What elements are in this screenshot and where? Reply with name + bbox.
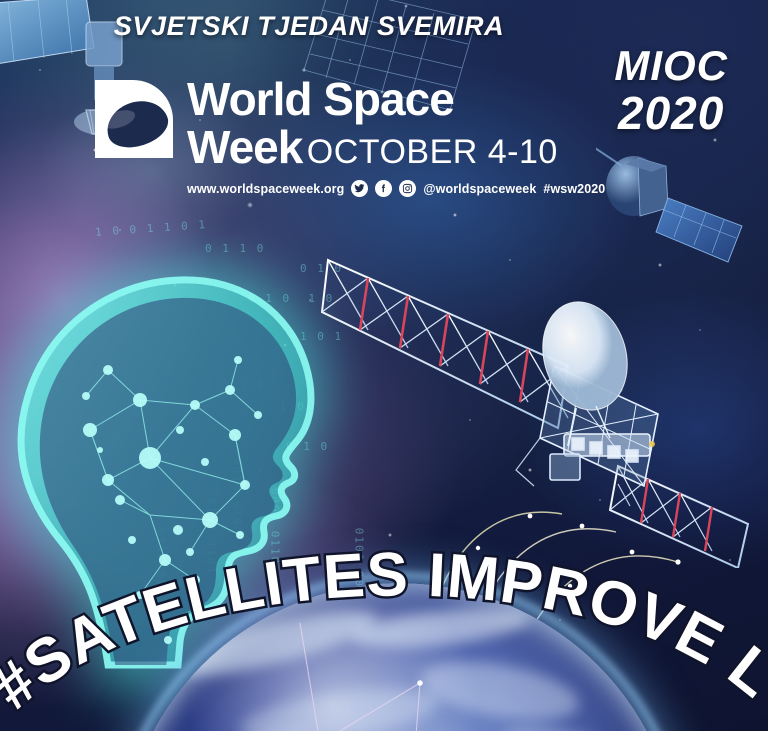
- logo-week-word: Week: [187, 121, 302, 173]
- theme-hashtag-text: #SATELLITES IMPROVE LIFE: [0, 470, 768, 722]
- logo-crescent-shape: [101, 93, 174, 154]
- world-space-week-poster: 1 0 0 1 1 0 1 0 1 1 0 0 1 0 0 1 0 1 0 1 …: [0, 0, 768, 731]
- org-badge-line1: MIOC: [614, 44, 728, 89]
- campaign-hashtag[interactable]: #wsw2020: [543, 182, 605, 196]
- page-title: SVJETSKI TJEDAN SVEMIRA: [0, 11, 768, 42]
- logo-dates: OCTOBER 4-10: [307, 133, 558, 171]
- instagram-icon[interactable]: [399, 180, 416, 197]
- twitter-icon[interactable]: [351, 180, 368, 197]
- website-url[interactable]: www.worldspaceweek.org: [187, 182, 344, 196]
- logo-footer: www.worldspaceweek.org: [187, 180, 605, 197]
- org-badge: MIOC 2020: [614, 44, 728, 137]
- social-handle[interactable]: @worldspaceweek: [423, 182, 536, 196]
- theme-hashtag: #SATELLITES IMPROVE LIFE: [0, 470, 768, 731]
- org-badge-line2: 2020: [614, 89, 728, 138]
- world-space-week-logo-mark: [95, 80, 173, 158]
- logo-title-line2: Week OCTOBER 4-10: [187, 124, 558, 170]
- facebook-icon[interactable]: [375, 180, 392, 197]
- logo-title-line1: World Space: [187, 76, 454, 122]
